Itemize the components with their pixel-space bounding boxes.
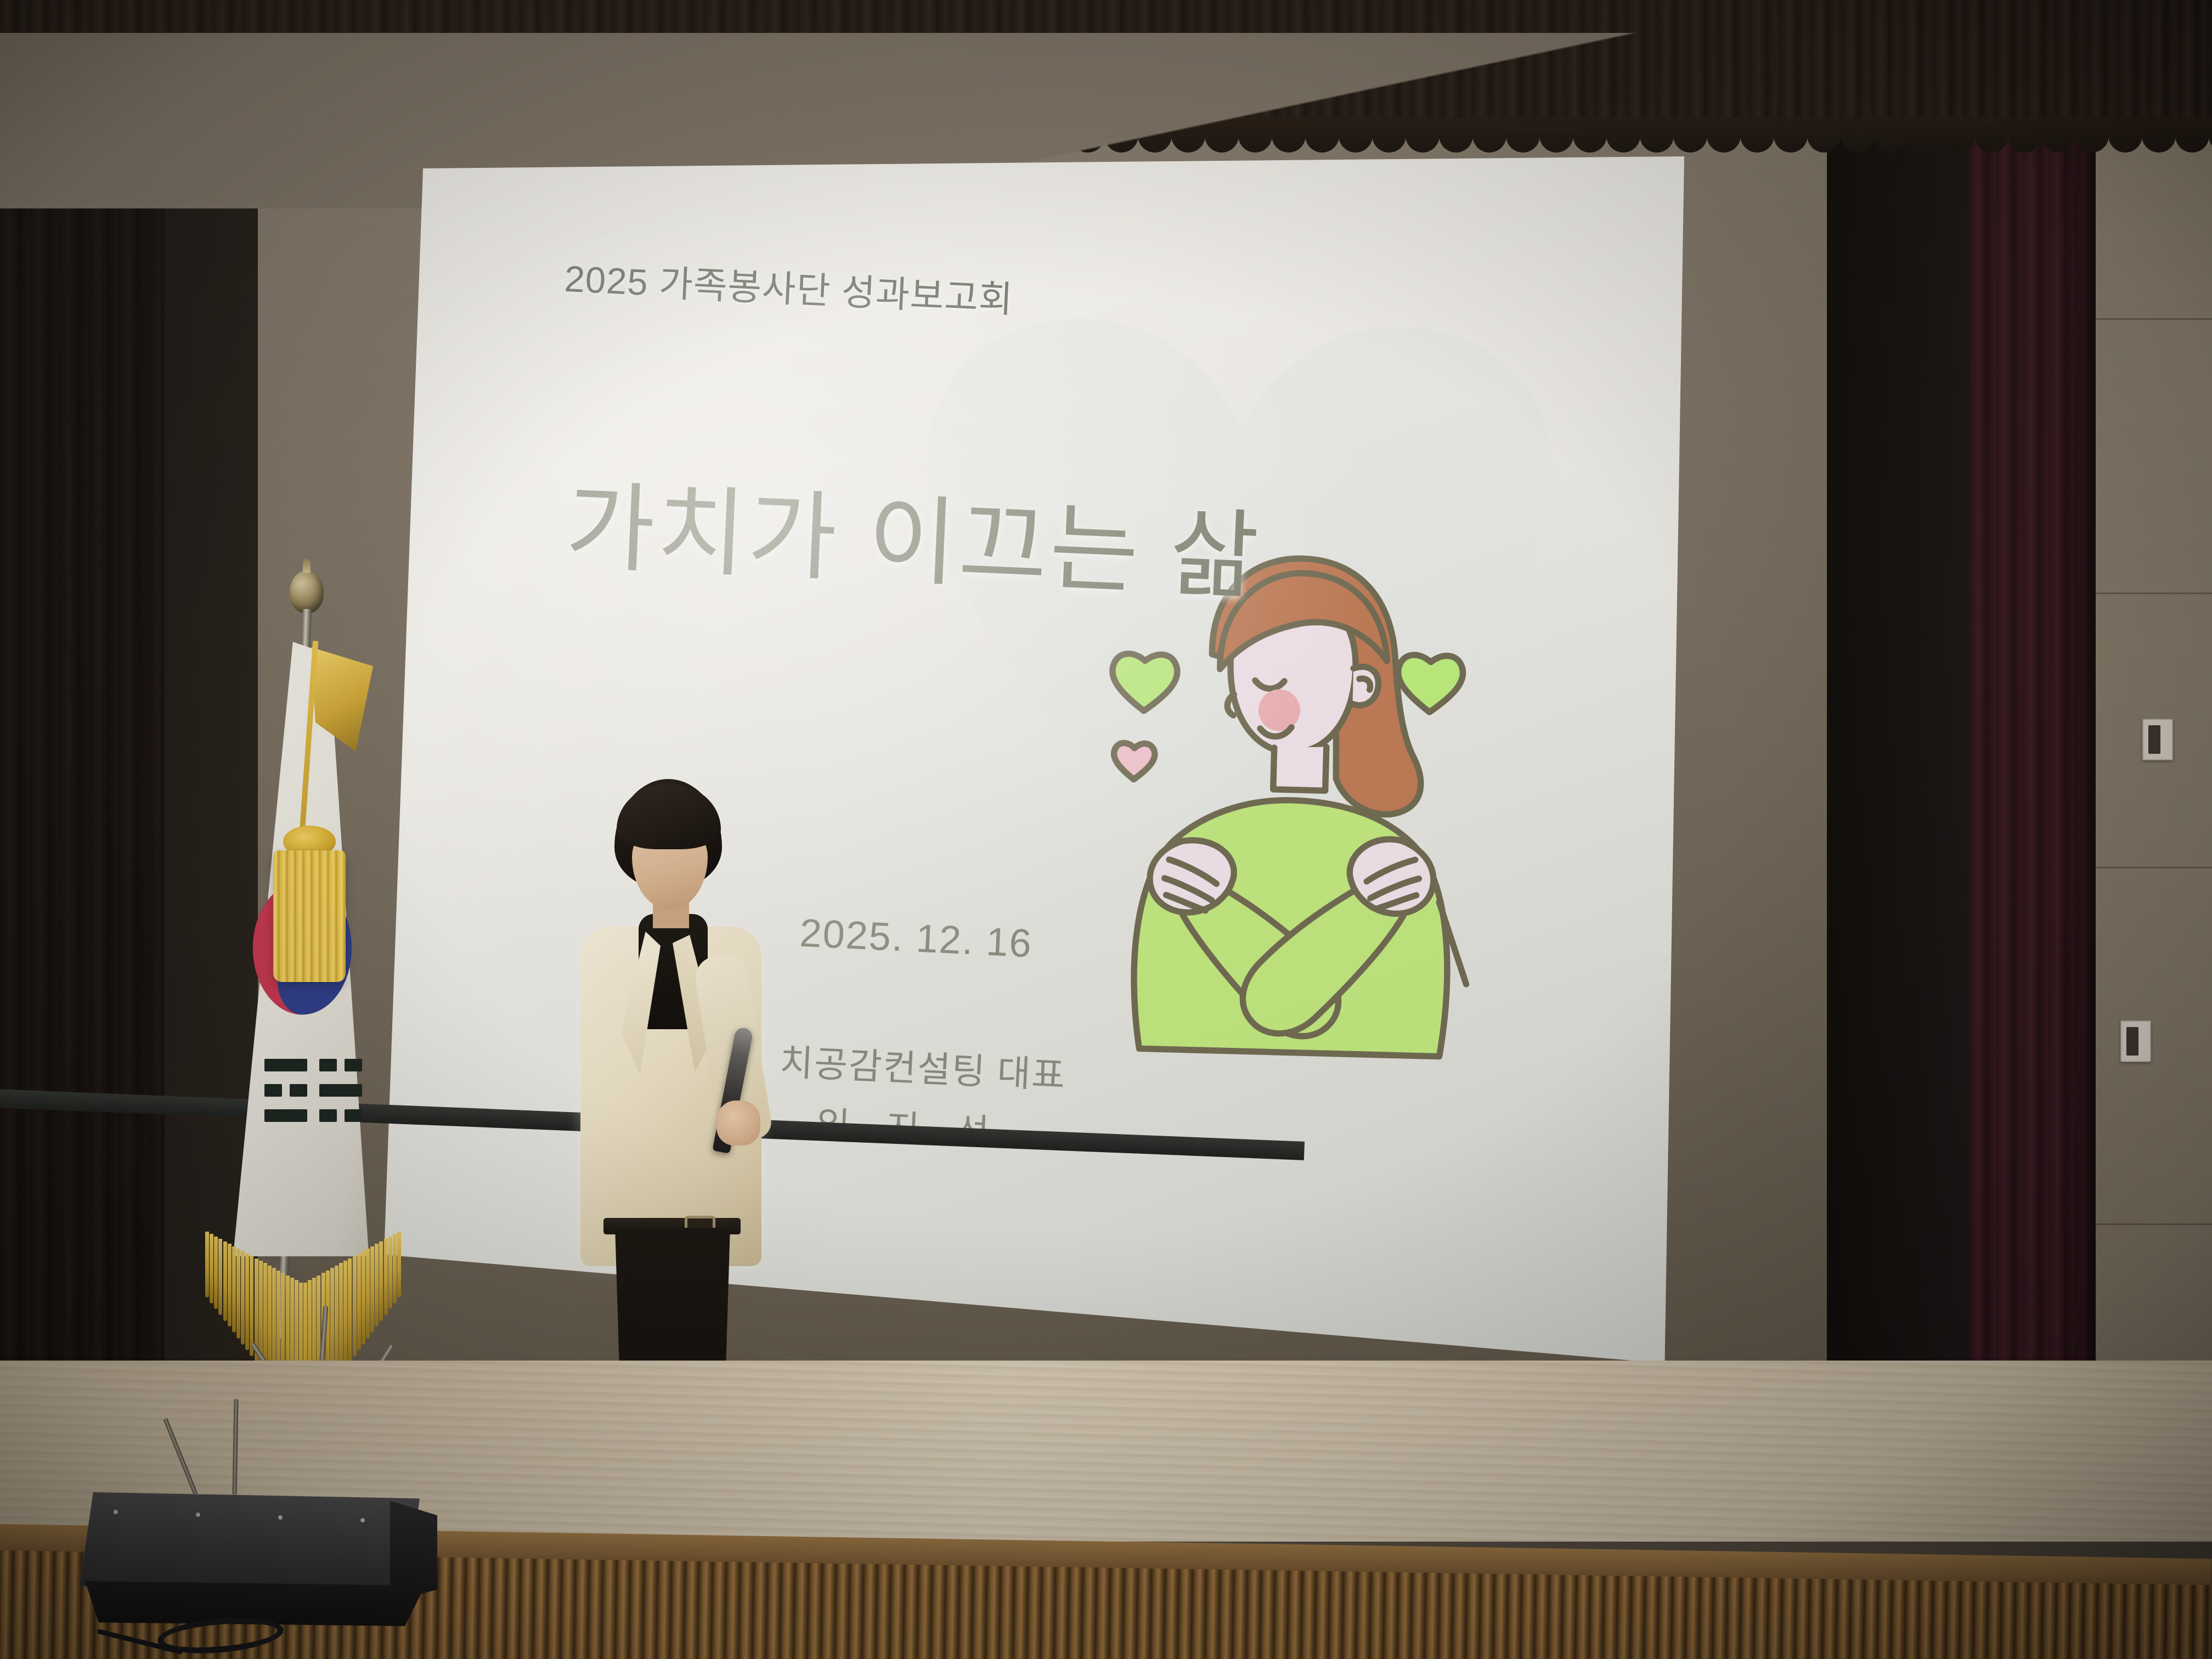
fringe-strand: [232, 1246, 236, 1333]
stage-monitor-speaker: [80, 1481, 453, 1640]
fringe-strand: [241, 1251, 245, 1344]
trigram-bar: [290, 1084, 307, 1097]
wall-switch-plate[interactable]: [2142, 719, 2173, 760]
flag-finial-ornament: [290, 571, 324, 613]
fringe-strand: [210, 1234, 213, 1303]
projected-slide: 2025 가족봉사단 성과보고회 가치가 이끄는 삶 2025. 12. 16 …: [355, 153, 1686, 1393]
monitor-screw: [196, 1513, 200, 1517]
right-stage-curtain-maroon: [1970, 77, 2096, 1404]
fringe-strand: [250, 1256, 253, 1356]
fringe-strand: [218, 1239, 222, 1315]
trigram-bar: [319, 1084, 362, 1097]
slide-affiliation-text: 치공감컨설팅 대표: [778, 1033, 1067, 1099]
fringe-strand: [397, 1232, 401, 1297]
flag-tassel-skirt: [273, 850, 346, 982]
fringe-strand: [228, 1244, 232, 1327]
fringe-strand: [214, 1237, 218, 1310]
monitor-screw: [114, 1510, 118, 1514]
wall-switch-plate[interactable]: [2120, 1020, 2151, 1062]
fringe-strand: [245, 1254, 249, 1351]
slide-main-title: 가치가 이끄는 삶: [563, 448, 1264, 618]
fringe-strand: [388, 1237, 392, 1310]
left-stage-curtain: [0, 33, 165, 1514]
fringe-strand: [223, 1242, 227, 1321]
trigram-bar: [319, 1059, 337, 1071]
monitor-grille-face: [80, 1492, 420, 1596]
slide-eyebrow-text: 2025 가족봉사단 성과보고회: [563, 249, 1014, 323]
trigram-bar: [264, 1109, 307, 1122]
flag-trigrams: [264, 1059, 363, 1141]
stage-presentation-photo: 2025 가족봉사단 성과보고회 가치가 이끄는 삶 2025. 12. 16 …: [0, 0, 2212, 1659]
trigram-bar: [345, 1059, 362, 1071]
fringe-strand: [393, 1234, 397, 1303]
presenter-hand: [716, 1101, 760, 1145]
trigram-bar: [319, 1109, 337, 1122]
right-stage-curtain-black: [1827, 66, 1986, 1404]
fringe-strand: [236, 1249, 240, 1339]
presenter-hair-front: [617, 783, 721, 849]
trigram-bar: [345, 1109, 362, 1122]
monitor-screw: [360, 1518, 365, 1522]
trigram-bar: [264, 1084, 282, 1097]
korean-flag: [181, 576, 466, 1465]
fringe-strand: [384, 1239, 388, 1315]
trigram-bar: [264, 1059, 307, 1071]
monitor-screw: [278, 1515, 283, 1520]
fringe-strand: [205, 1232, 209, 1297]
